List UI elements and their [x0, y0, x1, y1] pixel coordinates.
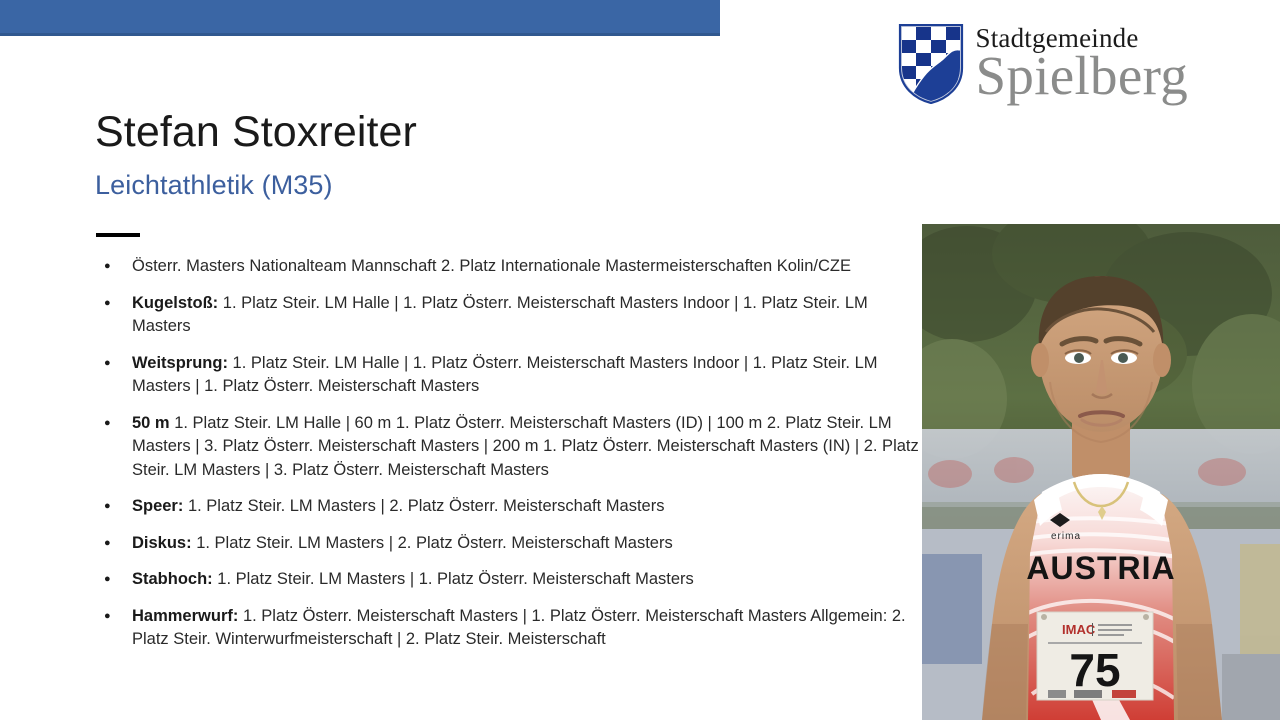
athlete-photo: erima AUSTRIA IMAC 75 [922, 224, 1280, 720]
achievement-item: Speer: 1. Platz Steir. LM Masters | 2. P… [95, 495, 923, 519]
achievement-text: Österr. Masters Nationalteam Mannschaft … [132, 257, 851, 275]
bib-event-text: IMAC [1062, 622, 1096, 637]
achievement-text: 1. Platz Steir. LM Halle | 60 m 1. Platz… [132, 414, 919, 479]
achievement-discipline: 50 m [132, 414, 170, 432]
achievement-item: Österr. Masters Nationalteam Mannschaft … [95, 255, 923, 279]
achievement-text: 1. Platz Steir. LM Masters | 2. Platz Ös… [188, 497, 665, 515]
achievement-discipline: Stabhoch: [132, 570, 213, 588]
jersey-country-text: AUSTRIA [1026, 550, 1175, 586]
achievement-item: Stabhoch: 1. Platz Steir. LM Masters | 1… [95, 568, 923, 592]
bib-number-text: 75 [1069, 644, 1120, 696]
achievement-item: Hammerwurf: 1. Platz Österr. Meisterscha… [95, 605, 923, 652]
header-accent-bar [0, 0, 720, 36]
achievement-text: 1. Platz Steir. LM Halle | 1. Platz Öste… [132, 354, 878, 396]
achievement-text: 1. Platz Steir. LM Masters | 1. Platz Ös… [217, 570, 694, 588]
municipality-logo: Stadtgemeinde Spielberg [898, 24, 1189, 104]
athlete-portrait-image: erima AUSTRIA IMAC 75 [922, 224, 1280, 720]
achievement-text: 1. Platz Steir. LM Halle | 1. Platz Öste… [132, 294, 868, 336]
logo-line-2: Spielberg [976, 48, 1189, 103]
achievement-item: Weitsprung: 1. Platz Steir. LM Halle | 1… [95, 352, 923, 399]
race-bib: IMAC 75 [1037, 612, 1153, 700]
page-subtitle: Leichtathletik (M35) [95, 170, 333, 201]
achievement-discipline: Diskus: [132, 534, 192, 552]
title-divider [96, 233, 140, 237]
achievement-discipline: Hammerwurf: [132, 607, 238, 625]
coat-of-arms-shield-icon [898, 24, 964, 104]
achievement-item: Kugelstoß: 1. Platz Steir. LM Halle | 1.… [95, 292, 923, 339]
achievement-item: 50 m 1. Platz Steir. LM Halle | 60 m 1. … [95, 412, 923, 483]
achievement-discipline: Weitsprung: [132, 354, 228, 372]
achievements-list: Österr. Masters Nationalteam Mannschaft … [95, 255, 923, 665]
achievement-text: 1. Platz Österr. Meisterschaft Masters |… [132, 607, 906, 649]
jersey-brand-text: erima [1051, 531, 1081, 542]
page-title: Stefan Stoxreiter [95, 108, 417, 157]
achievement-text: 1. Platz Steir. LM Masters | 2. Platz Ös… [196, 534, 673, 552]
achievement-discipline: Speer: [132, 497, 183, 515]
achievement-item: Diskus: 1. Platz Steir. LM Masters | 2. … [95, 532, 923, 556]
achievement-discipline: Kugelstoß: [132, 294, 218, 312]
